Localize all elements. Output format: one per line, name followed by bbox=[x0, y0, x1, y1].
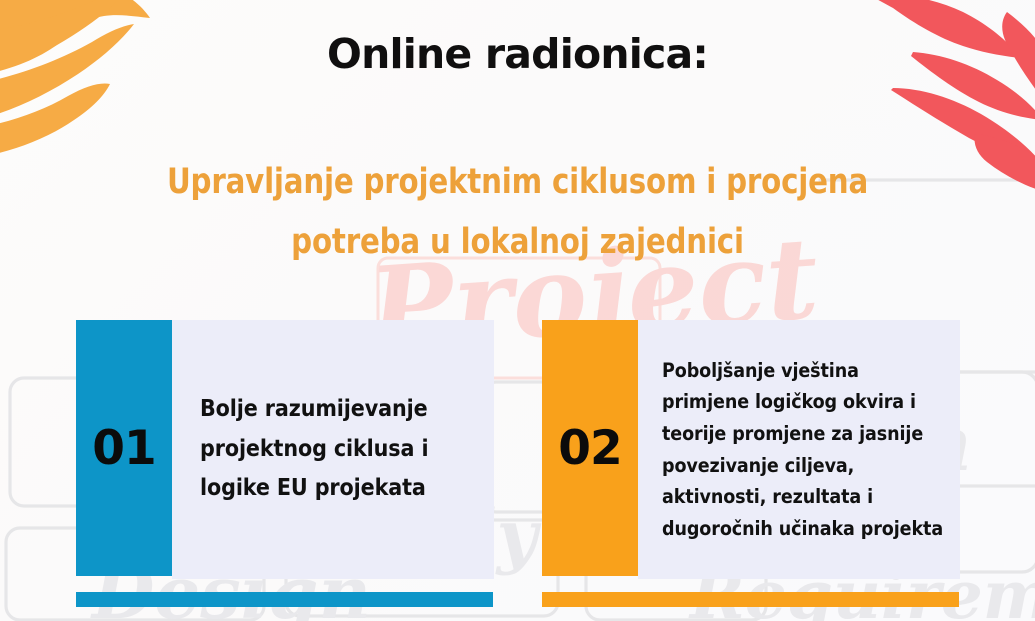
page-title: Online radionica: bbox=[0, 32, 1035, 77]
card-number-label-01: 01 bbox=[92, 425, 155, 472]
card-text-panel-01: Bolje razumijevanje projektnog ciklusa i… bbox=[172, 320, 494, 579]
underline-bar-left bbox=[76, 592, 493, 607]
underline-bar-right bbox=[542, 592, 959, 607]
card-number-block-02: 02 bbox=[542, 320, 638, 576]
card-text-02: Poboljšanje vještina primjene logičkog o… bbox=[662, 355, 950, 544]
objective-card-02: 02 Poboljšanje vještina primjene logičko… bbox=[542, 320, 960, 579]
card-text-panel-02: Poboljšanje vještina primjene logičkog o… bbox=[638, 320, 960, 579]
card-number-label-02: 02 bbox=[558, 425, 621, 472]
objective-card-01: 01 Bolje razumijevanje projektnog ciklus… bbox=[76, 320, 494, 579]
card-text-01: Bolje razumijevanje projektnog ciklusa i… bbox=[200, 390, 480, 509]
card-number-block-01: 01 bbox=[76, 320, 172, 576]
slide-canvas: .sk { fill:none; stroke:#e6e6e8; stroke-… bbox=[0, 0, 1035, 621]
page-subtitle: Upravljanje projektnim ciklusom i procje… bbox=[125, 152, 911, 272]
